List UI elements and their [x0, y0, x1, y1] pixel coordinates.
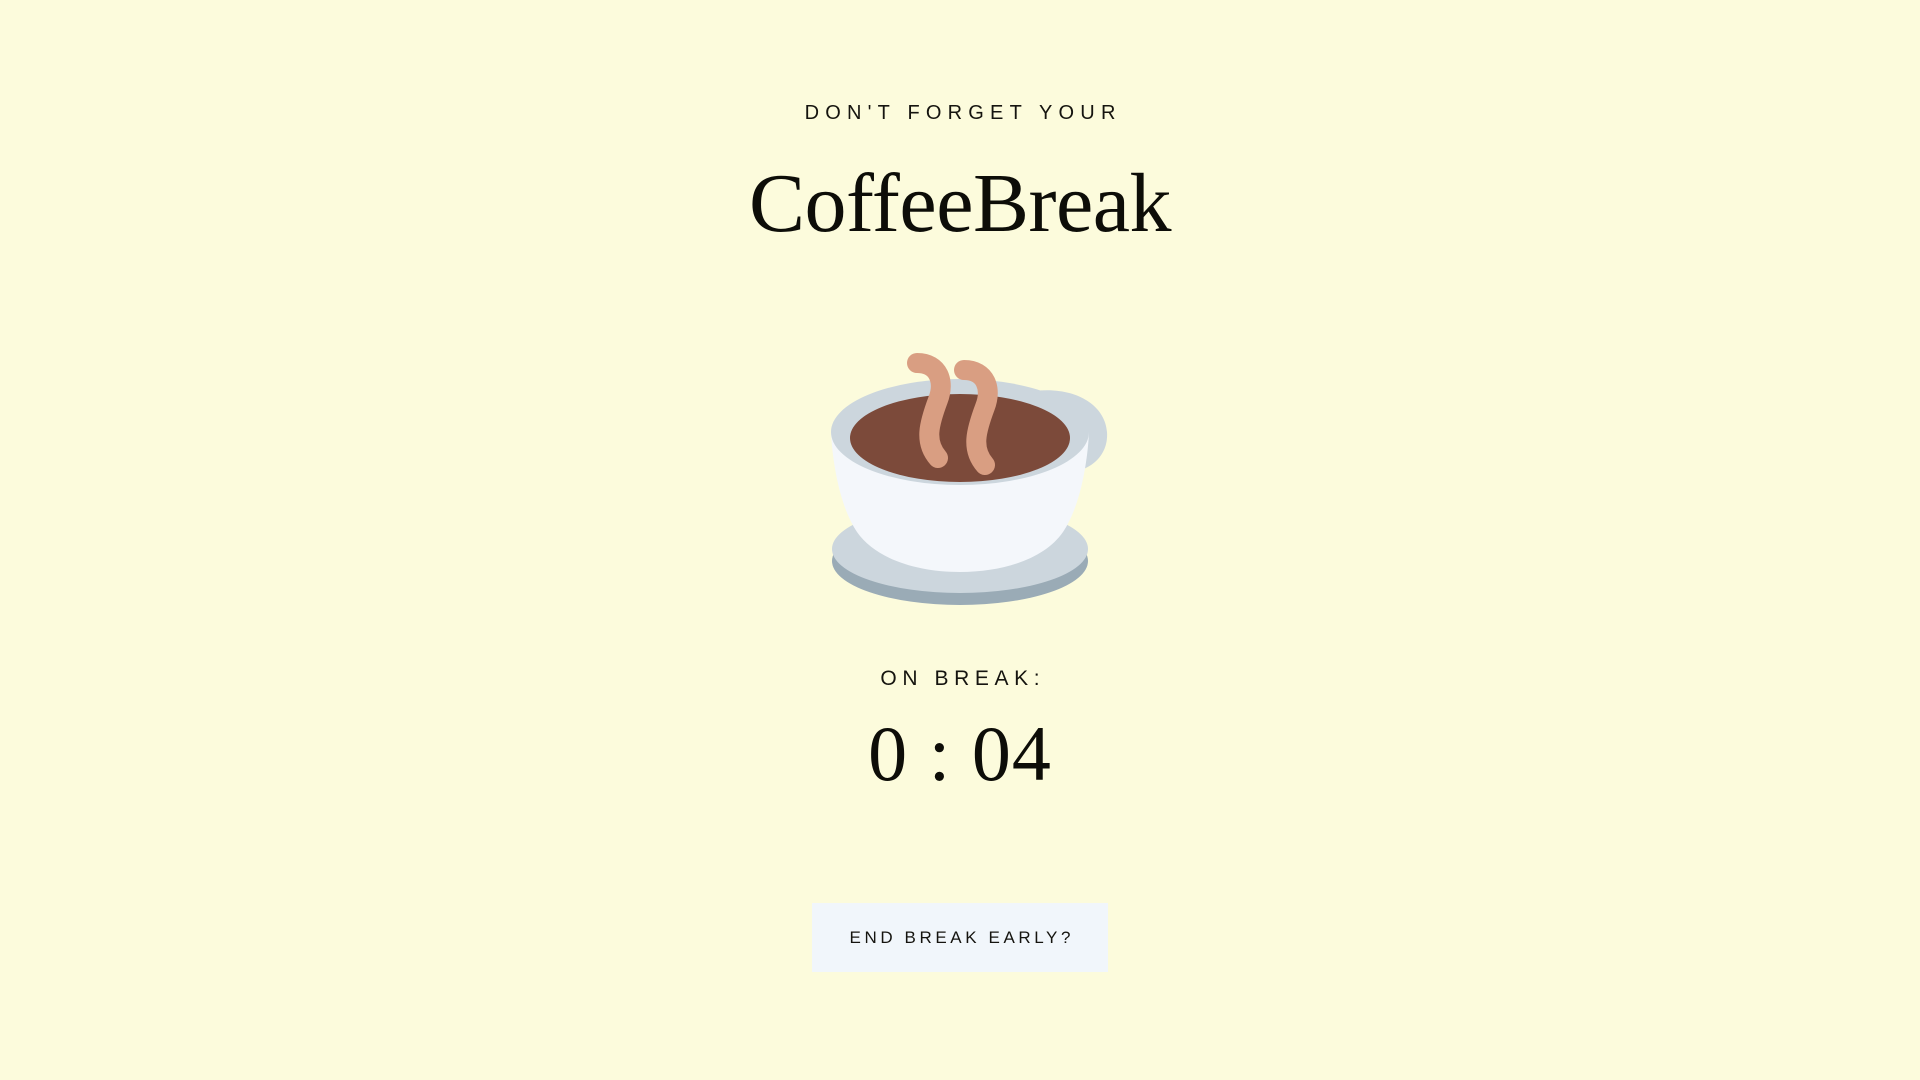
end-break-early-button[interactable]: END BREAK EARLY? — [812, 903, 1108, 972]
break-status-label: ON BREAK: — [875, 668, 1045, 689]
break-timer: 0 : 04 — [868, 715, 1052, 793]
coffee-cup-illustration — [805, 346, 1115, 656]
coffee-surface-shape — [850, 394, 1070, 482]
page-title: CoffeeBreak — [749, 162, 1171, 246]
coffee-break-screen: DON'T FORGET YOUR CoffeeBreak ON BREAK: … — [0, 0, 1920, 1080]
eyebrow-text: DON'T FORGET YOUR — [798, 103, 1121, 123]
